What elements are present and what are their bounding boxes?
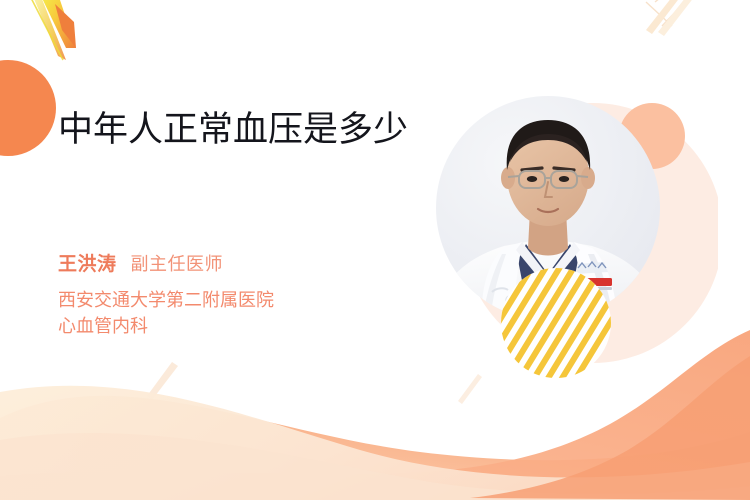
ribbon-decoration-top-left [30,0,76,60]
headline-block: 中年人正常血压是多少 [58,110,408,151]
doctor-hospital: 西安交通大学第二附属医院 [58,288,274,314]
orange-circle-decoration [0,60,56,156]
doctor-affiliation: 西安交通大学第二附属医院 心血管内科 [58,288,274,339]
doctor-department: 心血管内科 [58,314,274,340]
page-title: 中年人正常血压是多少 [58,110,408,151]
faint-diagonal-stroke-right [458,374,482,404]
doctor-title: 副主任医师 [131,250,224,276]
doctor-portrait-block [418,78,718,378]
faint-diagonal-line-top-right [646,0,698,36]
doctor-byline: 王洪涛 副主任医师 [58,249,223,276]
doctor-info-card: 中年人正常血压是多少 王洪涛 副主任医师 西安交通大学第二附属医院 心血管内科 [0,0,750,500]
doctor-name: 王洪涛 [58,249,117,276]
doctor-portrait [418,78,718,378]
